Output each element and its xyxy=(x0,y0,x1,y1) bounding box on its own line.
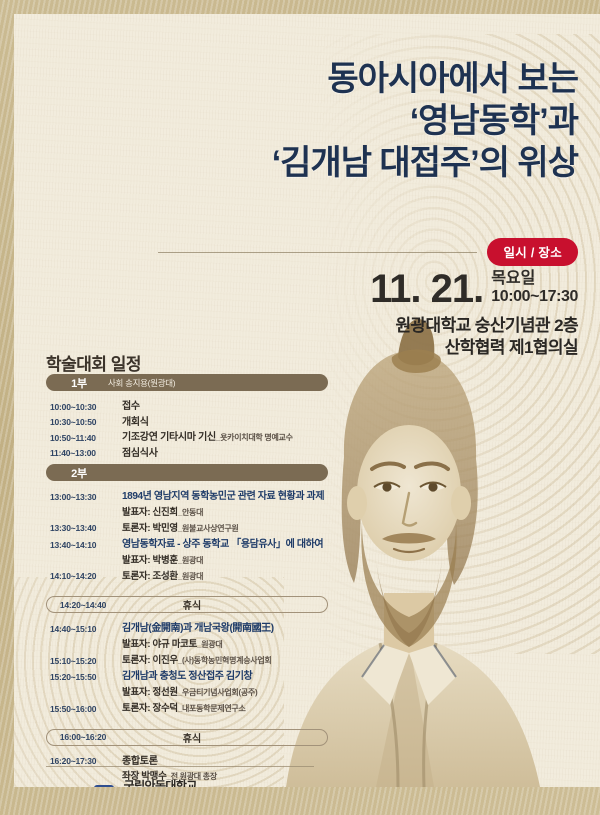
schedule-row: 13:40~14:10영남동학자료 - 상주 동학교 「용담유사」에 대하여 xyxy=(50,538,328,551)
session-person: 발표자: 신진희_안동대 xyxy=(122,507,328,520)
schedule-part-header: 1부사회 송지용(원광대) xyxy=(46,374,328,391)
schedule-row-time xyxy=(50,686,122,688)
schedule-item-note: _욧카이치대학 명예교수 xyxy=(216,433,293,442)
schedule-row-time: 14:10~14:20 xyxy=(50,570,122,582)
headline-line-3: ‘김개남 대접주’의 위상 xyxy=(178,142,578,184)
person-affiliation: _(사)동학농민혁명계승사업회 xyxy=(178,656,272,665)
schedule-row-time: 16:20~17:30 xyxy=(50,755,122,767)
schedule-row: 15:10~15:20토론자: 이진우_(사)동학농민혁명계승사업회 xyxy=(50,654,328,668)
headline-line-2: ‘영남동학’과 xyxy=(178,100,578,142)
conference-poster: 동아시아에서 보는 ‘영남동학’과 ‘김개남 대접주’의 위상 일시 / 장소 … xyxy=(0,0,600,815)
schedule-rows: 10:00~10:30접수10:30~10:50개회식10:50~11:40기조… xyxy=(46,398,328,464)
schedule-row-body: 토론자: 장수덕_내포동학문제연구소 xyxy=(122,702,328,716)
schedule-row: 14:10~14:20토론자: 조성환_원광대 xyxy=(50,570,328,584)
schedule-row-time xyxy=(50,638,122,640)
schedule-row: 10:30~10:50개회식 xyxy=(50,416,328,429)
break-time: 16:00~16:20 xyxy=(47,732,119,742)
schedule-row-body: 발표자: 신진희_안동대 xyxy=(122,506,328,520)
schedule-row: 14:40~15:10김개남(金開南)과 개남국왕(開南國王) xyxy=(50,622,328,635)
date-meta: 목요일 10:00~17:30 xyxy=(491,270,578,308)
schedule-row-body: 토론자: 조성환_원광대 xyxy=(122,570,328,584)
schedule-row: 11:40~13:00점심식사 xyxy=(50,447,328,460)
schedule-row-body: 토론자: 박민영_원불교사상연구원 xyxy=(122,522,328,536)
schedule-row-time: 15:20~15:50 xyxy=(50,670,122,682)
person-affiliation: _내포동학문제연구소 xyxy=(178,704,246,713)
session-title: 김개남과 충청도 정산접주 김기창 xyxy=(122,670,328,683)
schedule-row: 10:50~11:40기조강연 기타시마 기신_욧카이치대학 명예교수 xyxy=(50,431,328,444)
schedule-row-time: 13:40~14:10 xyxy=(50,538,122,550)
schedule-row: 발표자: 야규 마코토_원광대 xyxy=(50,638,328,652)
person-affiliation: _우금티기념사업회(공주) xyxy=(178,688,257,697)
part-moderator: 사회 송지용(원광대) xyxy=(108,377,175,389)
schedule-rows: 13:00~13:301894년 영남지역 동학농민군 관련 자료 현황과 과제… xyxy=(46,488,328,588)
schedule-item-label: 접수 xyxy=(122,400,328,413)
session-person: 토론자: 이진우_(사)동학농민혁명계승사업회 xyxy=(122,655,328,668)
break-label: 휴식 xyxy=(119,730,327,745)
session-title: 김개남(金開南)과 개남국왕(開南國王) xyxy=(122,622,328,635)
event-date: 11. 21. xyxy=(370,270,483,308)
schedule-item-label: 점심식사 xyxy=(122,447,328,460)
schedule-row-time: 13:30~13:40 xyxy=(50,522,122,534)
schedule-row-time: 13:00~13:30 xyxy=(50,490,122,502)
schedule-row: 발표자: 박병훈_원광대 xyxy=(50,554,328,568)
session-title: 1894년 영남지역 동학농민군 관련 자료 현황과 과제 xyxy=(122,490,328,503)
date-line: 11. 21. 목요일 10:00~17:30 xyxy=(158,270,578,308)
schedule-row-body: 김개남과 충청도 정산접주 김기창 xyxy=(122,670,328,683)
session-person: 토론자: 조성환_원광대 xyxy=(122,571,328,584)
session-person: 발표자: 야규 마코토_원광대 xyxy=(122,639,328,652)
schedule-item-label: 개회식 xyxy=(122,416,328,429)
schedule-row-body: 발표자: 야규 마코토_원광대 xyxy=(122,638,328,652)
university-logo-icon: A xyxy=(94,785,114,787)
schedule-row: 10:00~10:30접수 xyxy=(50,400,328,413)
schedule-row-time: 15:10~15:20 xyxy=(50,654,122,666)
schedule-break-row: 14:20~14:40휴식 xyxy=(46,596,328,613)
person-affiliation: _원광대 xyxy=(178,556,203,565)
schedule-break-row: 16:00~16:20휴식 xyxy=(46,729,328,746)
schedule-row-body: 접수 xyxy=(122,400,328,413)
schedule-row-body: 영남동학자료 - 상주 동학교 「용담유사」에 대하여 xyxy=(122,538,328,551)
person-affiliation: _안동대 xyxy=(178,508,203,517)
session-person: 발표자: 정선원_우금티기념사업회(공주) xyxy=(122,687,328,700)
schedule-row-body: 김개남(金開南)과 개남국왕(開南國王) xyxy=(122,622,328,635)
schedule-row-time: 11:40~13:00 xyxy=(50,447,122,459)
organizing-unit: 글로컬대학사업단 xyxy=(216,786,300,787)
venue-line-1: 원광대학교 숭산기념관 2층 xyxy=(395,316,578,335)
schedule-title: 학술대회 일정 xyxy=(46,350,141,375)
schedule-row-time: 15:50~16:00 xyxy=(50,702,122,714)
footer-organizer: 주최·주관 A 국립안동대학교 ANDONG NATIONAL UNIVERSI… xyxy=(46,778,300,787)
schedule-row-time: 10:50~11:40 xyxy=(50,431,122,443)
part-label: 1부 xyxy=(50,375,108,391)
person-affiliation: _원불교사상연구원 xyxy=(178,524,239,533)
schedule-rows: 14:40~15:10김개남(金開南)과 개남국왕(開南國王)발표자: 야규 마… xyxy=(46,620,328,720)
day-of-week: 목요일 xyxy=(491,270,535,287)
date-venue-block: 11. 21. 목요일 10:00~17:30 원광대학교 숭산기념관 2층 산… xyxy=(158,270,578,359)
schedule-row-time: 14:40~15:10 xyxy=(50,622,122,634)
schedule-row: 15:20~15:50김개남과 충청도 정산접주 김기창 xyxy=(50,670,328,683)
schedule-row: 발표자: 신진희_안동대 xyxy=(50,506,328,520)
poster-paper-panel: 동아시아에서 보는 ‘영남동학’과 ‘김개남 대접주’의 위상 일시 / 장소 … xyxy=(14,14,600,787)
venue-line-2: 산학협력 제1협의실 xyxy=(445,338,578,357)
session-person: 발표자: 박병훈_원광대 xyxy=(122,555,328,568)
schedule-list: 1부사회 송지용(원광대)10:00~10:30접수10:30~10:50개회식… xyxy=(46,374,328,787)
footer-divider xyxy=(46,766,314,767)
part-label: 2부 xyxy=(50,465,108,481)
schedule-row: 13:30~13:40토론자: 박민영_원불교사상연구원 xyxy=(50,522,328,536)
schedule-row-body: 1894년 영남지역 동학농민군 관련 자료 현황과 과제 xyxy=(122,490,328,503)
schedule-row: 13:00~13:301894년 영남지역 동학농민군 관련 자료 현황과 과제 xyxy=(50,490,328,503)
headline-line-1: 동아시아에서 보는 xyxy=(178,58,578,100)
status-badge: 일시 / 장소 xyxy=(487,238,578,266)
schedule-row-time xyxy=(50,770,122,772)
badge-rule xyxy=(158,252,477,253)
schedule-row: 15:50~16:00토론자: 장수덕_내포동학문제연구소 xyxy=(50,702,328,716)
schedule-row-body: 토론자: 이진우_(사)동학농민혁명계승사업회 xyxy=(122,654,328,668)
break-time: 14:20~14:40 xyxy=(47,600,119,610)
schedule-row-body: 기조강연 기타시마 기신_욧카이치대학 명예교수 xyxy=(122,431,328,444)
venue-text: 원광대학교 숭산기념관 2층 산학협력 제1협의실 xyxy=(158,315,578,359)
datetime-badge-row: 일시 / 장소 xyxy=(158,238,578,266)
person-affiliation: _원광대 xyxy=(197,640,222,649)
university-name: 국립안동대학교 ANDONG NATIONAL UNIVERSITY xyxy=(124,778,204,787)
schedule-row-body: 개회식 xyxy=(122,416,328,429)
university-name-ko: 국립안동대학교 xyxy=(124,779,197,787)
schedule-row-time: 10:30~10:50 xyxy=(50,416,122,428)
schedule-part-header: 2부 xyxy=(46,464,328,481)
poster-headline: 동아시아에서 보는 ‘영남동학’과 ‘김개남 대접주’의 위상 xyxy=(178,58,578,184)
person-affiliation: _원광대 xyxy=(178,572,203,581)
break-label: 휴식 xyxy=(119,597,327,612)
time-range: 10:00~17:30 xyxy=(491,288,578,305)
session-title: 영남동학자료 - 상주 동학교 「용담유사」에 대하여 xyxy=(122,538,328,551)
schedule-row-time xyxy=(50,506,122,508)
schedule-row-body: 점심식사 xyxy=(122,447,328,460)
schedule-row-time: 10:00~10:30 xyxy=(50,400,122,412)
schedule-row-body: 발표자: 박병훈_원광대 xyxy=(122,554,328,568)
session-person: 토론자: 장수덕_내포동학문제연구소 xyxy=(122,703,328,716)
schedule-row-time xyxy=(50,554,122,556)
session-person: 토론자: 박민영_원불교사상연구원 xyxy=(122,523,328,536)
schedule-row: 발표자: 정선원_우금티기념사업회(공주) xyxy=(50,686,328,700)
schedule-item-label: 기조강연 기타시마 기신_욧카이치대학 명예교수 xyxy=(122,431,328,444)
schedule-row-body: 발표자: 정선원_우금티기념사업회(공주) xyxy=(122,686,328,700)
